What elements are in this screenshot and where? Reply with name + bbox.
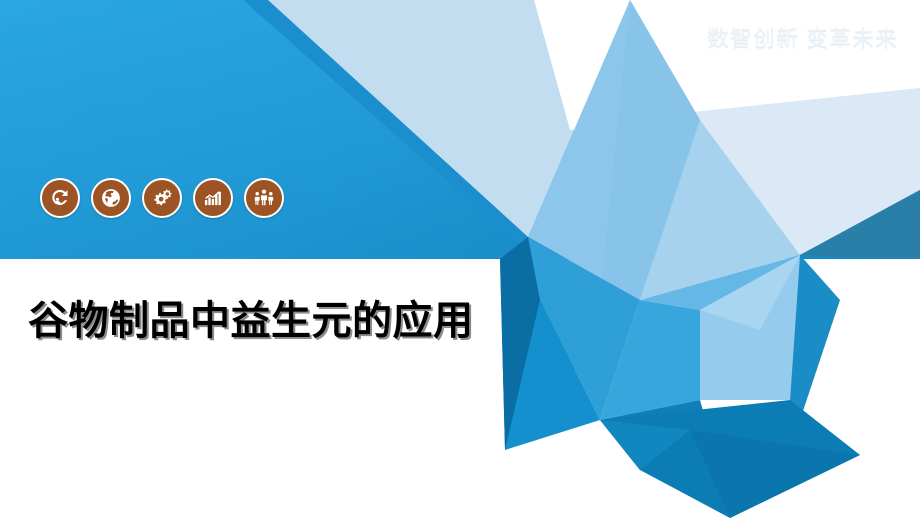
page-title: 谷物制品中益生元的应用: [28, 298, 474, 344]
people-group-icon: [253, 187, 275, 209]
icon-strip: [40, 178, 284, 218]
icon-badge-refresh-cycle[interactable]: [40, 178, 80, 218]
refresh-cycle-icon: [49, 187, 71, 209]
presentation-slide: 数智创新 变革未来: [0, 0, 920, 518]
globe-icon: [100, 187, 122, 209]
background-artwork: [0, 0, 920, 518]
icon-badge-people-group[interactable]: [244, 178, 284, 218]
bar-chart-icon: [202, 187, 224, 209]
icon-badge-bar-chart[interactable]: [193, 178, 233, 218]
icon-badge-gears[interactable]: [142, 178, 182, 218]
gears-icon: [151, 187, 173, 209]
icon-badge-globe[interactable]: [91, 178, 131, 218]
slide-tagline: 数智创新 变革未来: [707, 26, 898, 52]
